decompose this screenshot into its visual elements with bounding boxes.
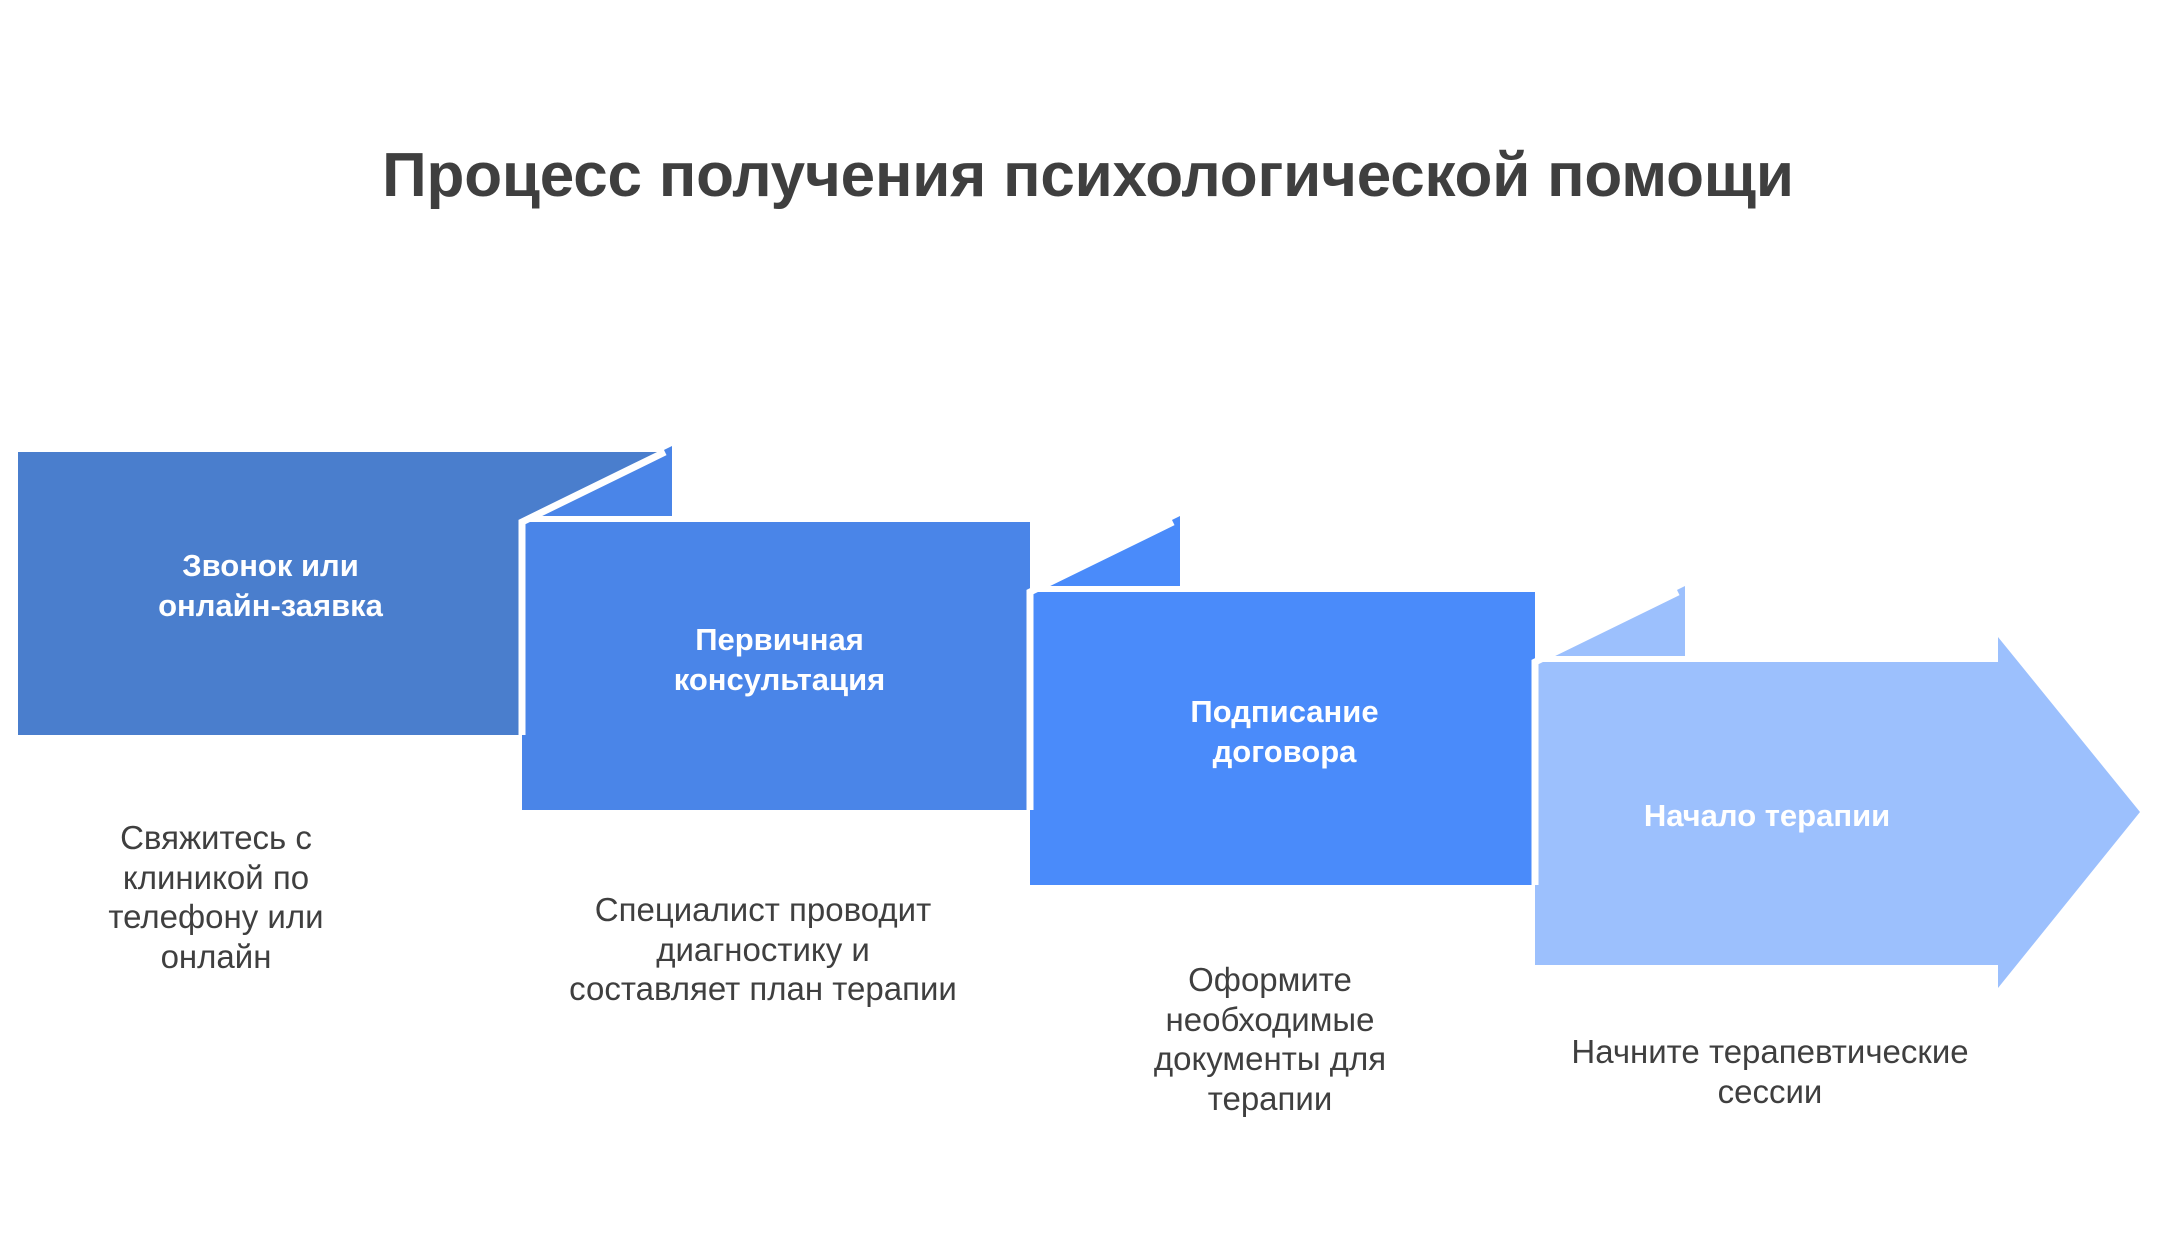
step-label-2: Первичная консультация bbox=[527, 620, 1032, 699]
step-caption-4: Начните терапевтические сессии bbox=[1570, 1032, 1970, 1111]
step-caption-1: Свяжитесь с клиникой по телефону или онл… bbox=[66, 818, 366, 976]
slide-canvas: Процесс получения психологической помощи… bbox=[0, 0, 2176, 1256]
step-caption-2: Специалист проводит диагностику и состав… bbox=[568, 890, 958, 1009]
step-caption-3: Оформите необходимые документы для терап… bbox=[1090, 960, 1450, 1118]
step-shape-4-tab bbox=[1543, 586, 1685, 656]
fold-separator-3 bbox=[1535, 592, 1678, 885]
step-label-4: Начало терапии bbox=[1537, 796, 1997, 836]
step-label-1: Звонок или онлайн-заявка bbox=[18, 546, 523, 625]
page-title: Процесс получения психологической помощи bbox=[0, 140, 2176, 211]
step-shape-3-tab bbox=[1038, 516, 1180, 586]
step-label-3: Подписание договора bbox=[1032, 692, 1537, 771]
step-shape-2-tab bbox=[530, 446, 672, 516]
